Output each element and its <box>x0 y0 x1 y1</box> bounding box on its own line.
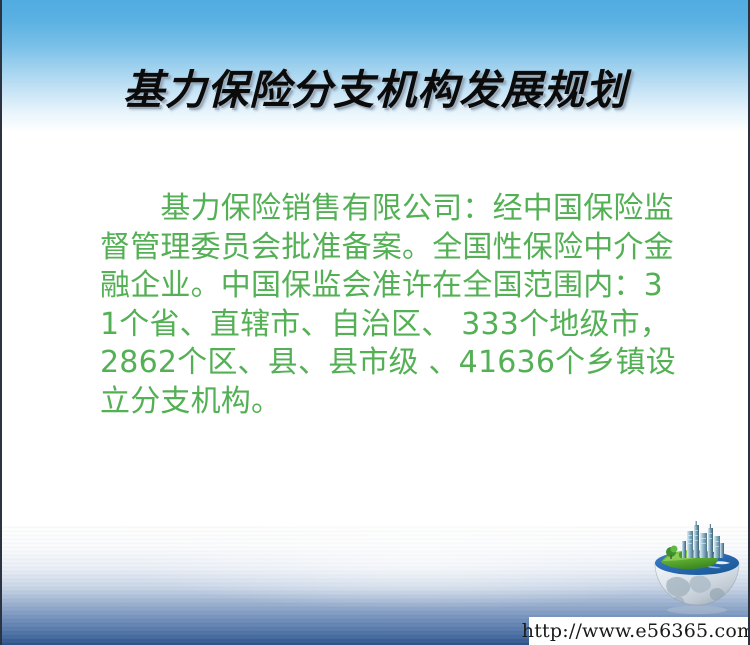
slide-title: 基力保险分支机构发展规划 <box>2 56 748 116</box>
watermark-banner: http://www.e56365.com <box>529 617 748 645</box>
slide-body-paragraph: 基力保险销售有限公司：经中国保险监督管理委员会批准备案。全国性保险中介金融企业。… <box>100 190 680 421</box>
earth-city-globe-image <box>649 519 745 615</box>
watermark-url: http://www.e56365.com <box>522 620 750 642</box>
presentation-slide: 基力保险分支机构发展规划 基力保险销售有限公司：经中国保险监督管理委员会批准备案… <box>0 0 750 645</box>
